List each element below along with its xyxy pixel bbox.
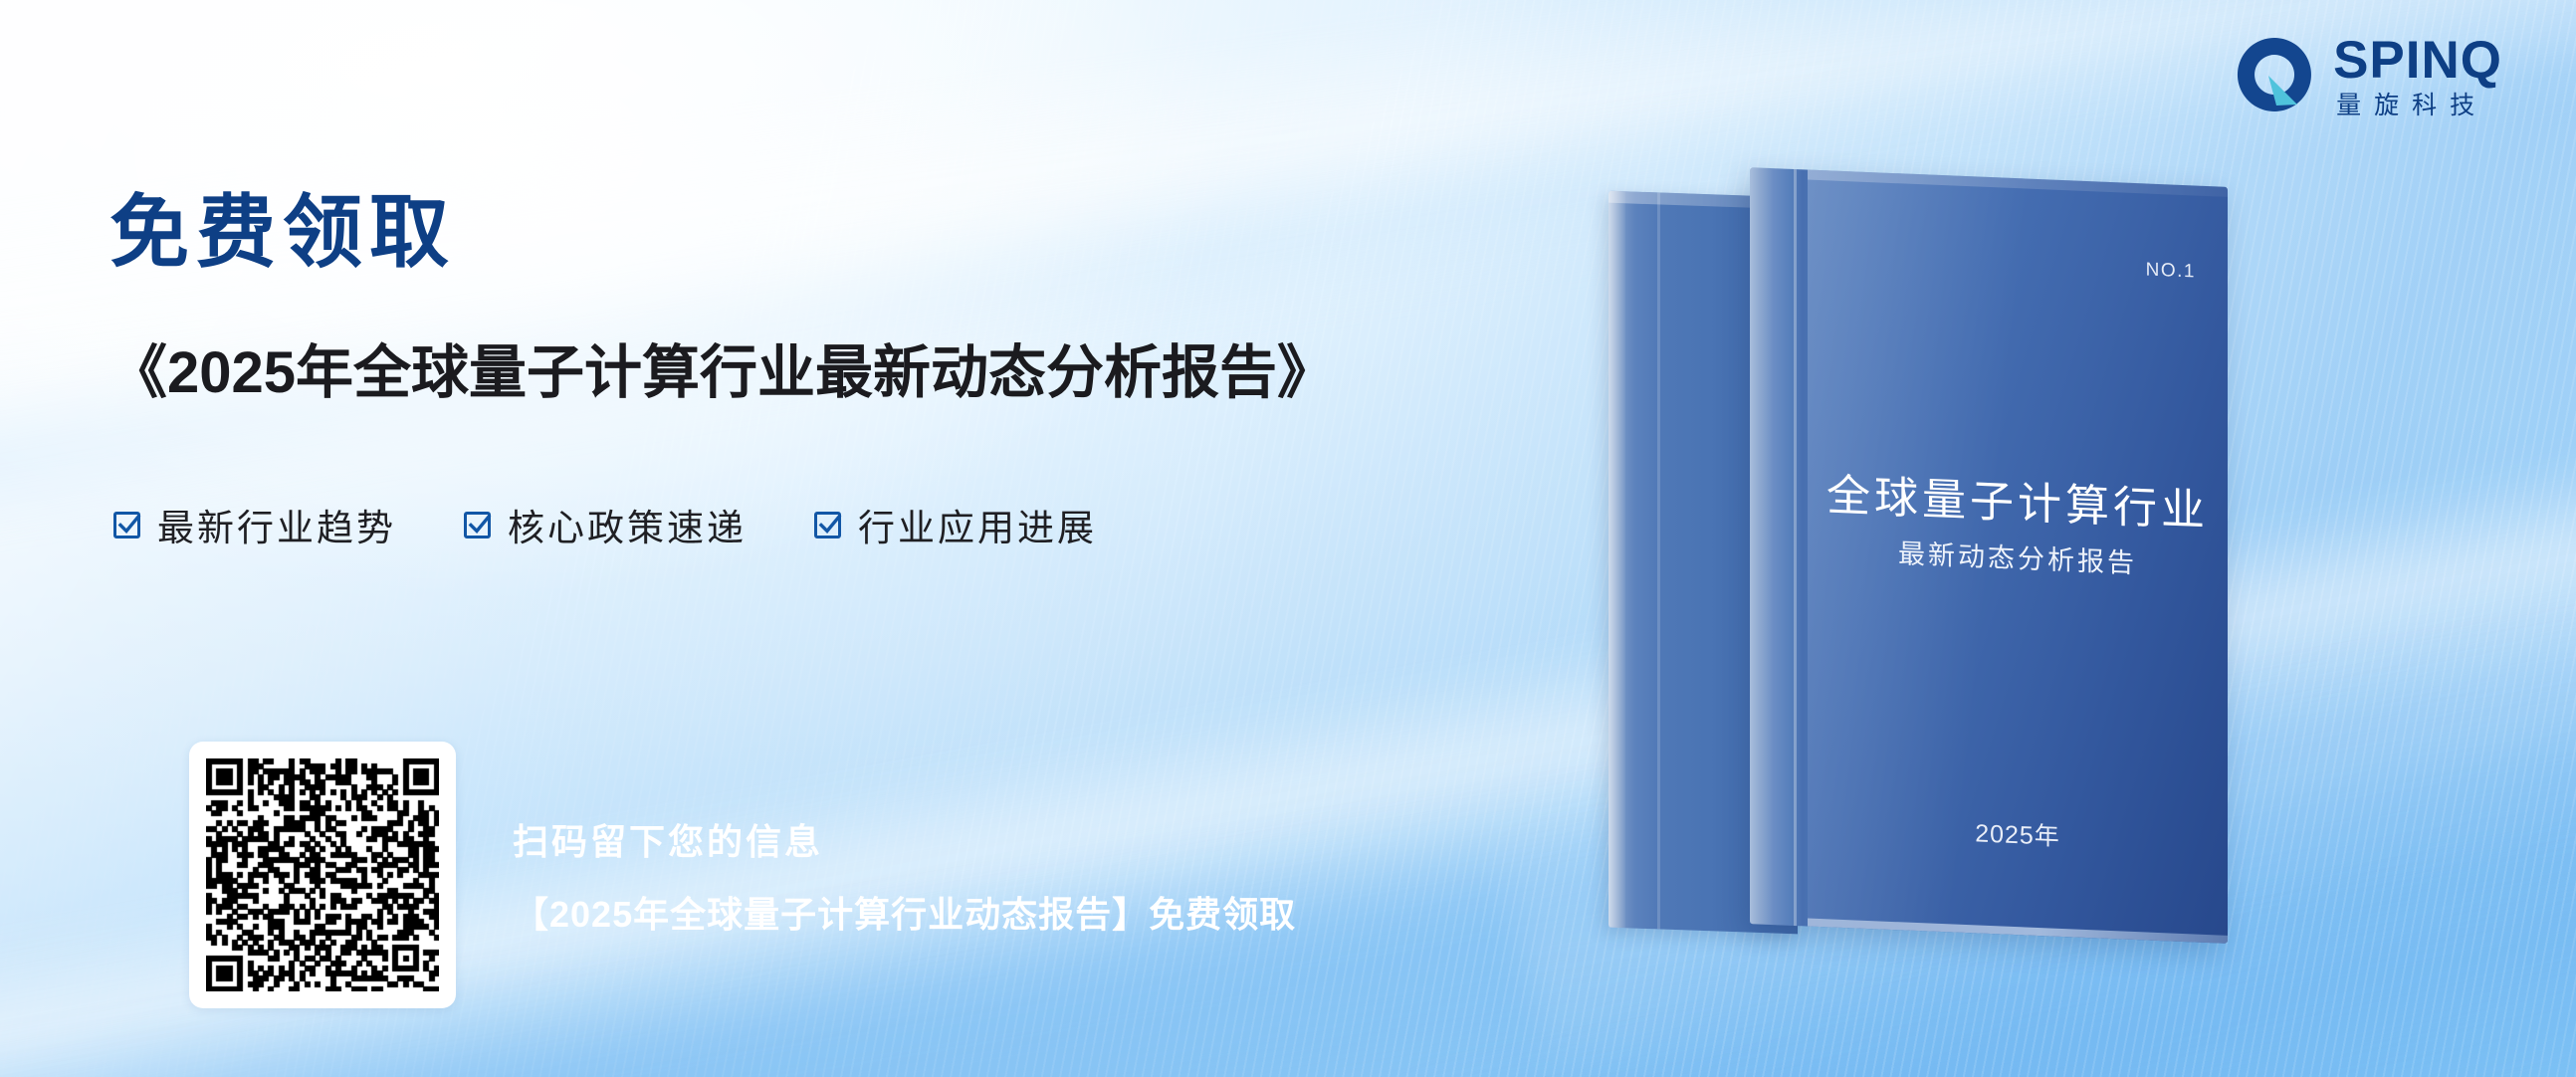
report-subtitle: 《2025年全球量子计算行业最新动态分析报告》 (109, 338, 1335, 408)
qr-caption-line-1: 扫码留下您的信息 (513, 816, 1296, 867)
qr-caption-line-2: 【2025年全球量子计算行业动态报告】免费领取 (513, 889, 1296, 940)
cover-bottom-edge (1808, 919, 2228, 944)
spinq-q-mark-icon (2236, 36, 2313, 113)
feature-label-1: 核心政策速递 (508, 498, 747, 551)
front-book-spine-line (1794, 169, 1797, 926)
page-title: 免费领取 (109, 193, 456, 273)
front-book-spine (1750, 167, 1810, 926)
cover-badge: NO.1 (2146, 259, 2196, 283)
back-book-spine-highlight (1609, 191, 1625, 929)
feature-list: 最新行业趋势 核心政策速递 行业应用进展 (113, 498, 1097, 551)
logo-wordmark: SPINQ (2333, 34, 2502, 87)
back-book-spine-line (1657, 192, 1660, 929)
feature-label-0: 最新行业趋势 (157, 498, 396, 551)
checkbox-checked-icon (814, 512, 841, 538)
promo-banner: SPINQ 量旋科技 免费领取 《2025年全球量子计算行业最新动态分析报告》 … (0, 0, 2576, 1077)
report-book-mockup: 全 NO.1 全球量子计算行业 最新动态分析报告 2025年 (1553, 149, 2309, 975)
qr-code-card[interactable] (189, 742, 456, 1008)
front-book: NO.1 全球量子计算行业 最新动态分析报告 2025年 (1750, 167, 2228, 944)
feature-label-2: 行业应用进展 (858, 498, 1097, 551)
checkbox-checked-icon (113, 512, 140, 538)
feature-item-1: 核心政策速递 (464, 498, 747, 551)
front-book-cover: NO.1 全球量子计算行业 最新动态分析报告 2025年 (1808, 170, 2228, 944)
qr-caption: 扫码留下您的信息 【2025年全球量子计算行业动态报告】免费领取 (513, 816, 1296, 940)
logo-cn-name: 量旋科技 (2333, 94, 2502, 118)
feature-item-0: 最新行业趋势 (113, 498, 396, 551)
spinq-logo[interactable]: SPINQ 量旋科技 (2236, 30, 2502, 118)
checkbox-checked-icon (464, 512, 491, 538)
feature-item-2: 行业应用进展 (814, 498, 1097, 551)
qr-code-icon[interactable] (206, 758, 439, 991)
